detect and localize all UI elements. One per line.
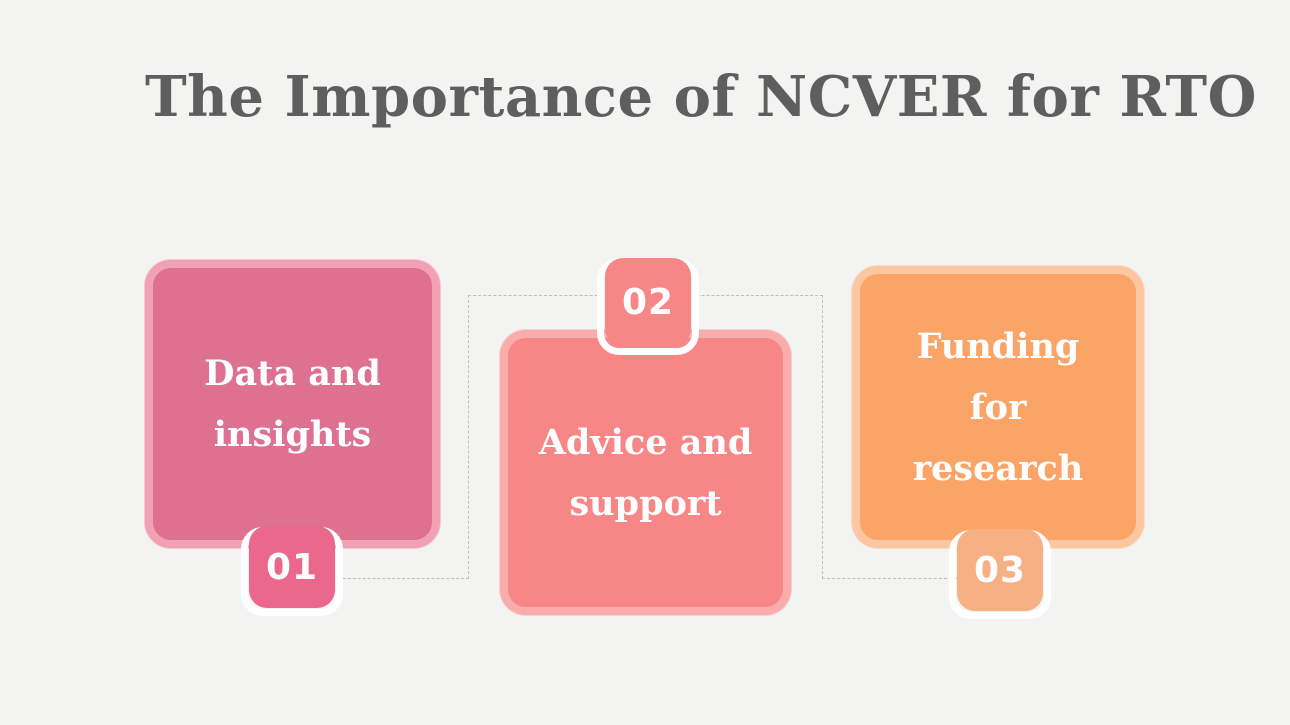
badge-number-03: 03	[957, 529, 1043, 611]
connector-line-top-left	[468, 295, 618, 296]
connector-line-bottom-left	[343, 578, 469, 579]
card-label-2: Advice and support	[534, 412, 757, 534]
card-label-3: Funding for research	[886, 316, 1110, 499]
connector-line-vertical-right	[822, 295, 823, 579]
badge-number-01: 01	[249, 526, 335, 608]
card-label-1: Data and insights	[179, 343, 406, 465]
card-funding-for-research[interactable]: Funding for research	[852, 266, 1144, 548]
badge-number-02: 02	[605, 258, 691, 346]
card-advice-and-support[interactable]: Advice and support	[500, 330, 791, 615]
connector-line-vertical-left	[468, 295, 469, 579]
card-data-and-insights[interactable]: Data and insights	[145, 260, 440, 548]
connector-line-bottom-right	[822, 578, 957, 579]
slide-canvas: The Importance of NCVER for RTO Data and…	[0, 0, 1290, 725]
page-title: The Importance of NCVER for RTO	[145, 60, 1155, 134]
